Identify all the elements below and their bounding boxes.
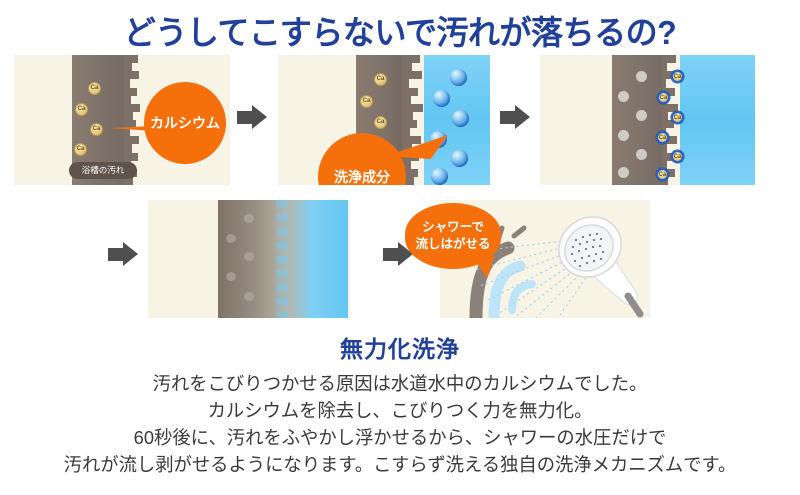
wall-pit xyxy=(636,110,647,121)
calcium-token-captured: Ca xyxy=(671,111,684,124)
cleaning-sphere xyxy=(452,110,469,127)
arrow-2 xyxy=(500,105,532,130)
body-line: 汚れが流し剥がせるようになります。こすらず洗える独自の洗浄メカニズムです。 xyxy=(4,451,796,478)
arrow-head xyxy=(515,105,530,129)
callout-shower-line2: 流しはがせる xyxy=(415,236,490,253)
wall-pit xyxy=(618,91,629,102)
calcium-token: Ca xyxy=(374,116,387,129)
calcium-token-captured: Ca xyxy=(657,91,670,104)
wall-pit xyxy=(226,272,236,281)
calcium-token: Ca xyxy=(374,73,387,86)
calcium-token: Ca xyxy=(360,95,373,108)
step-panel-1: Ca Ca Ca Ca Ca 浴槽の汚れ カルシウム xyxy=(14,55,230,185)
wall-label-text: 浴槽の汚れ xyxy=(82,165,125,175)
arrow-1 xyxy=(237,105,269,130)
cleaning-sphere xyxy=(451,150,468,167)
water-wave-edge-4 xyxy=(276,200,288,318)
callout-cleaning-agent-label: 洗浄成分 xyxy=(334,169,390,185)
step-panel-4 xyxy=(148,200,350,318)
callout-shower: シャワーで 流しはがせる xyxy=(405,203,501,269)
water-layer-3 xyxy=(680,55,755,185)
callout-calcium: カルシウム xyxy=(144,82,226,164)
calcium-token-captured: Ca xyxy=(656,168,669,181)
infographic-root: どうしてこすらないで汚れが落ちるの? Ca Ca Ca Ca Ca 浴槽の汚れ … xyxy=(0,0,800,495)
wall-pit xyxy=(244,292,254,301)
wall-pit xyxy=(244,252,254,261)
calcium-token: Ca xyxy=(75,103,88,116)
wall-pit xyxy=(618,167,629,178)
section-subhead: 無力化洗浄 xyxy=(0,330,800,364)
step-panel-3: Ca Ca Ca Ca Ca Ca xyxy=(540,55,755,185)
cleaning-sphere xyxy=(433,90,450,107)
calcium-token-captured: Ca xyxy=(671,70,684,83)
calcium-token-captured: Ca xyxy=(656,131,669,144)
calcium-token: Ca xyxy=(74,143,87,156)
page-title: どうしてこすらないで汚れが落ちるの? xyxy=(12,6,788,54)
arrow-head xyxy=(123,242,138,266)
arrow-3 xyxy=(108,242,140,267)
calcium-token-captured: Ca xyxy=(671,150,684,163)
body-line: 60秒後に、汚れをふやかし浮かせるから、シャワーの水圧だけで xyxy=(4,424,796,451)
calcium-token: Ca xyxy=(90,123,103,136)
body-copy: 汚れをこびりつかせる原因は水道水中のカルシウムでした。 カルシウムを除去し、こび… xyxy=(0,370,800,478)
cleaning-sphere xyxy=(450,69,467,86)
step-panel-2: Ca Ca Ca 洗浄成分 xyxy=(278,55,490,185)
callout-shower-line1: シャワーで xyxy=(415,219,490,236)
wall-pit xyxy=(226,234,236,243)
cleaning-sphere xyxy=(431,168,448,185)
arrow-head xyxy=(252,105,267,129)
wall-pit xyxy=(636,71,647,82)
wall-pit xyxy=(618,130,629,141)
body-line: 汚れをこびりつかせる原因は水道水中のカルシウムでした。 xyxy=(4,370,796,397)
wall-label-pill: 浴槽の汚れ xyxy=(69,162,137,179)
calcium-token: Ca xyxy=(88,82,101,95)
callout-calcium-label: カルシウム xyxy=(150,115,220,132)
wall-pit xyxy=(244,214,254,223)
body-line: カルシウムを除去し、こびりつく力を無力化。 xyxy=(4,397,796,424)
wall-pit xyxy=(636,149,647,160)
